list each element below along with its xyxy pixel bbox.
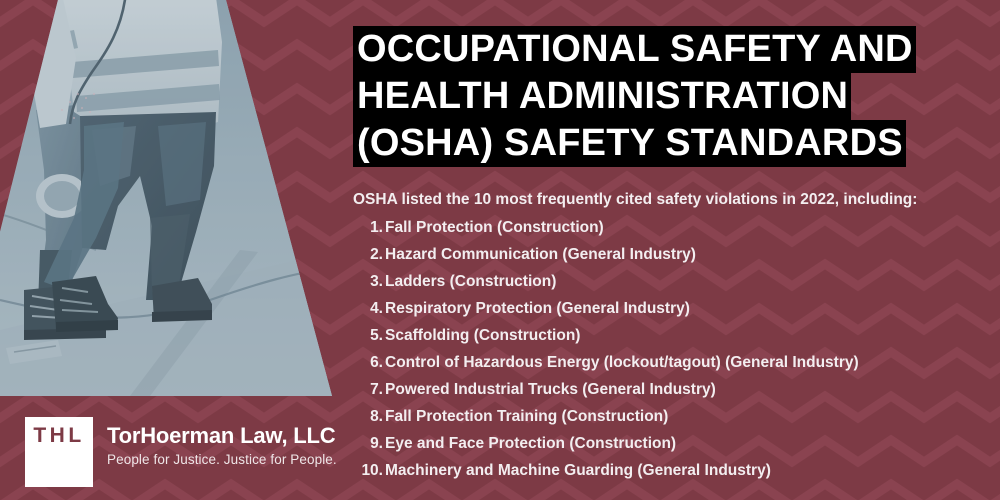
list-item: 5. Scaffolding (Construction): [353, 322, 993, 349]
list-item: 2. Hazard Communication (General Industr…: [353, 241, 993, 268]
list-item-number: 4.: [353, 295, 383, 322]
list-item-number: 1.: [353, 214, 383, 241]
list-item: 4. Respiratory Protection (General Indus…: [353, 295, 993, 322]
violations-list: 1. Fall Protection (Construction) 2. Haz…: [353, 214, 993, 484]
list-item-number: 6.: [353, 349, 383, 376]
list-item-number: 3.: [353, 268, 383, 295]
page-title-line: OCCUPATIONAL SAFETY AND: [353, 26, 953, 73]
list-item: 1. Fall Protection (Construction): [353, 214, 993, 241]
intro-text: OSHA listed the 10 most frequently cited…: [353, 190, 917, 210]
page-title-line: (OSHA) SAFETY STANDARDS: [353, 120, 953, 167]
thl-monogram-text: THL: [25, 424, 93, 448]
worker-photo: [0, 0, 340, 396]
list-item: 8. Fall Protection Training (Constructio…: [353, 403, 993, 430]
worker-photo-image: [0, 0, 340, 396]
firm-tagline: People for Justice. Justice for People.: [107, 449, 337, 469]
list-item: 10. Machinery and Machine Guarding (Gene…: [353, 457, 993, 484]
list-item-label: Respiratory Protection (General Industry…: [383, 295, 690, 322]
page-title-line-2: HEALTH ADMINISTRATION: [353, 73, 851, 120]
list-item: 3. Ladders (Construction): [353, 268, 993, 295]
list-item-number: 7.: [353, 376, 383, 403]
list-item: 9. Eye and Face Protection (Construction…: [353, 430, 993, 457]
list-item-label: Hazard Communication (General Industry): [383, 241, 696, 268]
list-item: 6. Control of Hazardous Energy (lockout/…: [353, 349, 993, 376]
infographic-canvas: OCCUPATIONAL SAFETY AND HEALTH ADMINISTR…: [0, 0, 1000, 500]
list-item-label: Eye and Face Protection (Construction): [383, 430, 676, 457]
list-item-number: 9.: [353, 430, 383, 457]
list-item-number: 8.: [353, 403, 383, 430]
list-item-label: Control of Hazardous Energy (lockout/tag…: [383, 349, 859, 376]
list-item-label: Ladders (Construction): [383, 268, 556, 295]
list-item-number: 5.: [353, 322, 383, 349]
thl-monogram-mark: THL: [25, 417, 93, 487]
list-item-number: 10.: [353, 457, 383, 484]
list-item-label: Machinery and Machine Guarding (General …: [383, 457, 771, 484]
firm-logo[interactable]: THL TorHoerman Law, LLC People for Justi…: [25, 417, 337, 487]
page-title-line: HEALTH ADMINISTRATION: [353, 73, 953, 120]
list-item-label: Fall Protection (Construction): [383, 214, 604, 241]
firm-logo-text: TorHoerman Law, LLC People for Justice. …: [93, 417, 337, 469]
list-item-label: Scaffolding (Construction): [383, 322, 580, 349]
page-title-line-1: OCCUPATIONAL SAFETY AND: [353, 26, 916, 73]
page-title-line-3: (OSHA) SAFETY STANDARDS: [353, 120, 906, 167]
list-item: 7. Powered Industrial Trucks (General In…: [353, 376, 993, 403]
page-title: OCCUPATIONAL SAFETY AND HEALTH ADMINISTR…: [353, 26, 953, 167]
firm-name: TorHoerman Law, LLC: [107, 423, 337, 449]
list-item-label: Powered Industrial Trucks (General Indus…: [383, 376, 716, 403]
list-item-label: Fall Protection Training (Construction): [383, 403, 668, 430]
list-item-number: 2.: [353, 241, 383, 268]
